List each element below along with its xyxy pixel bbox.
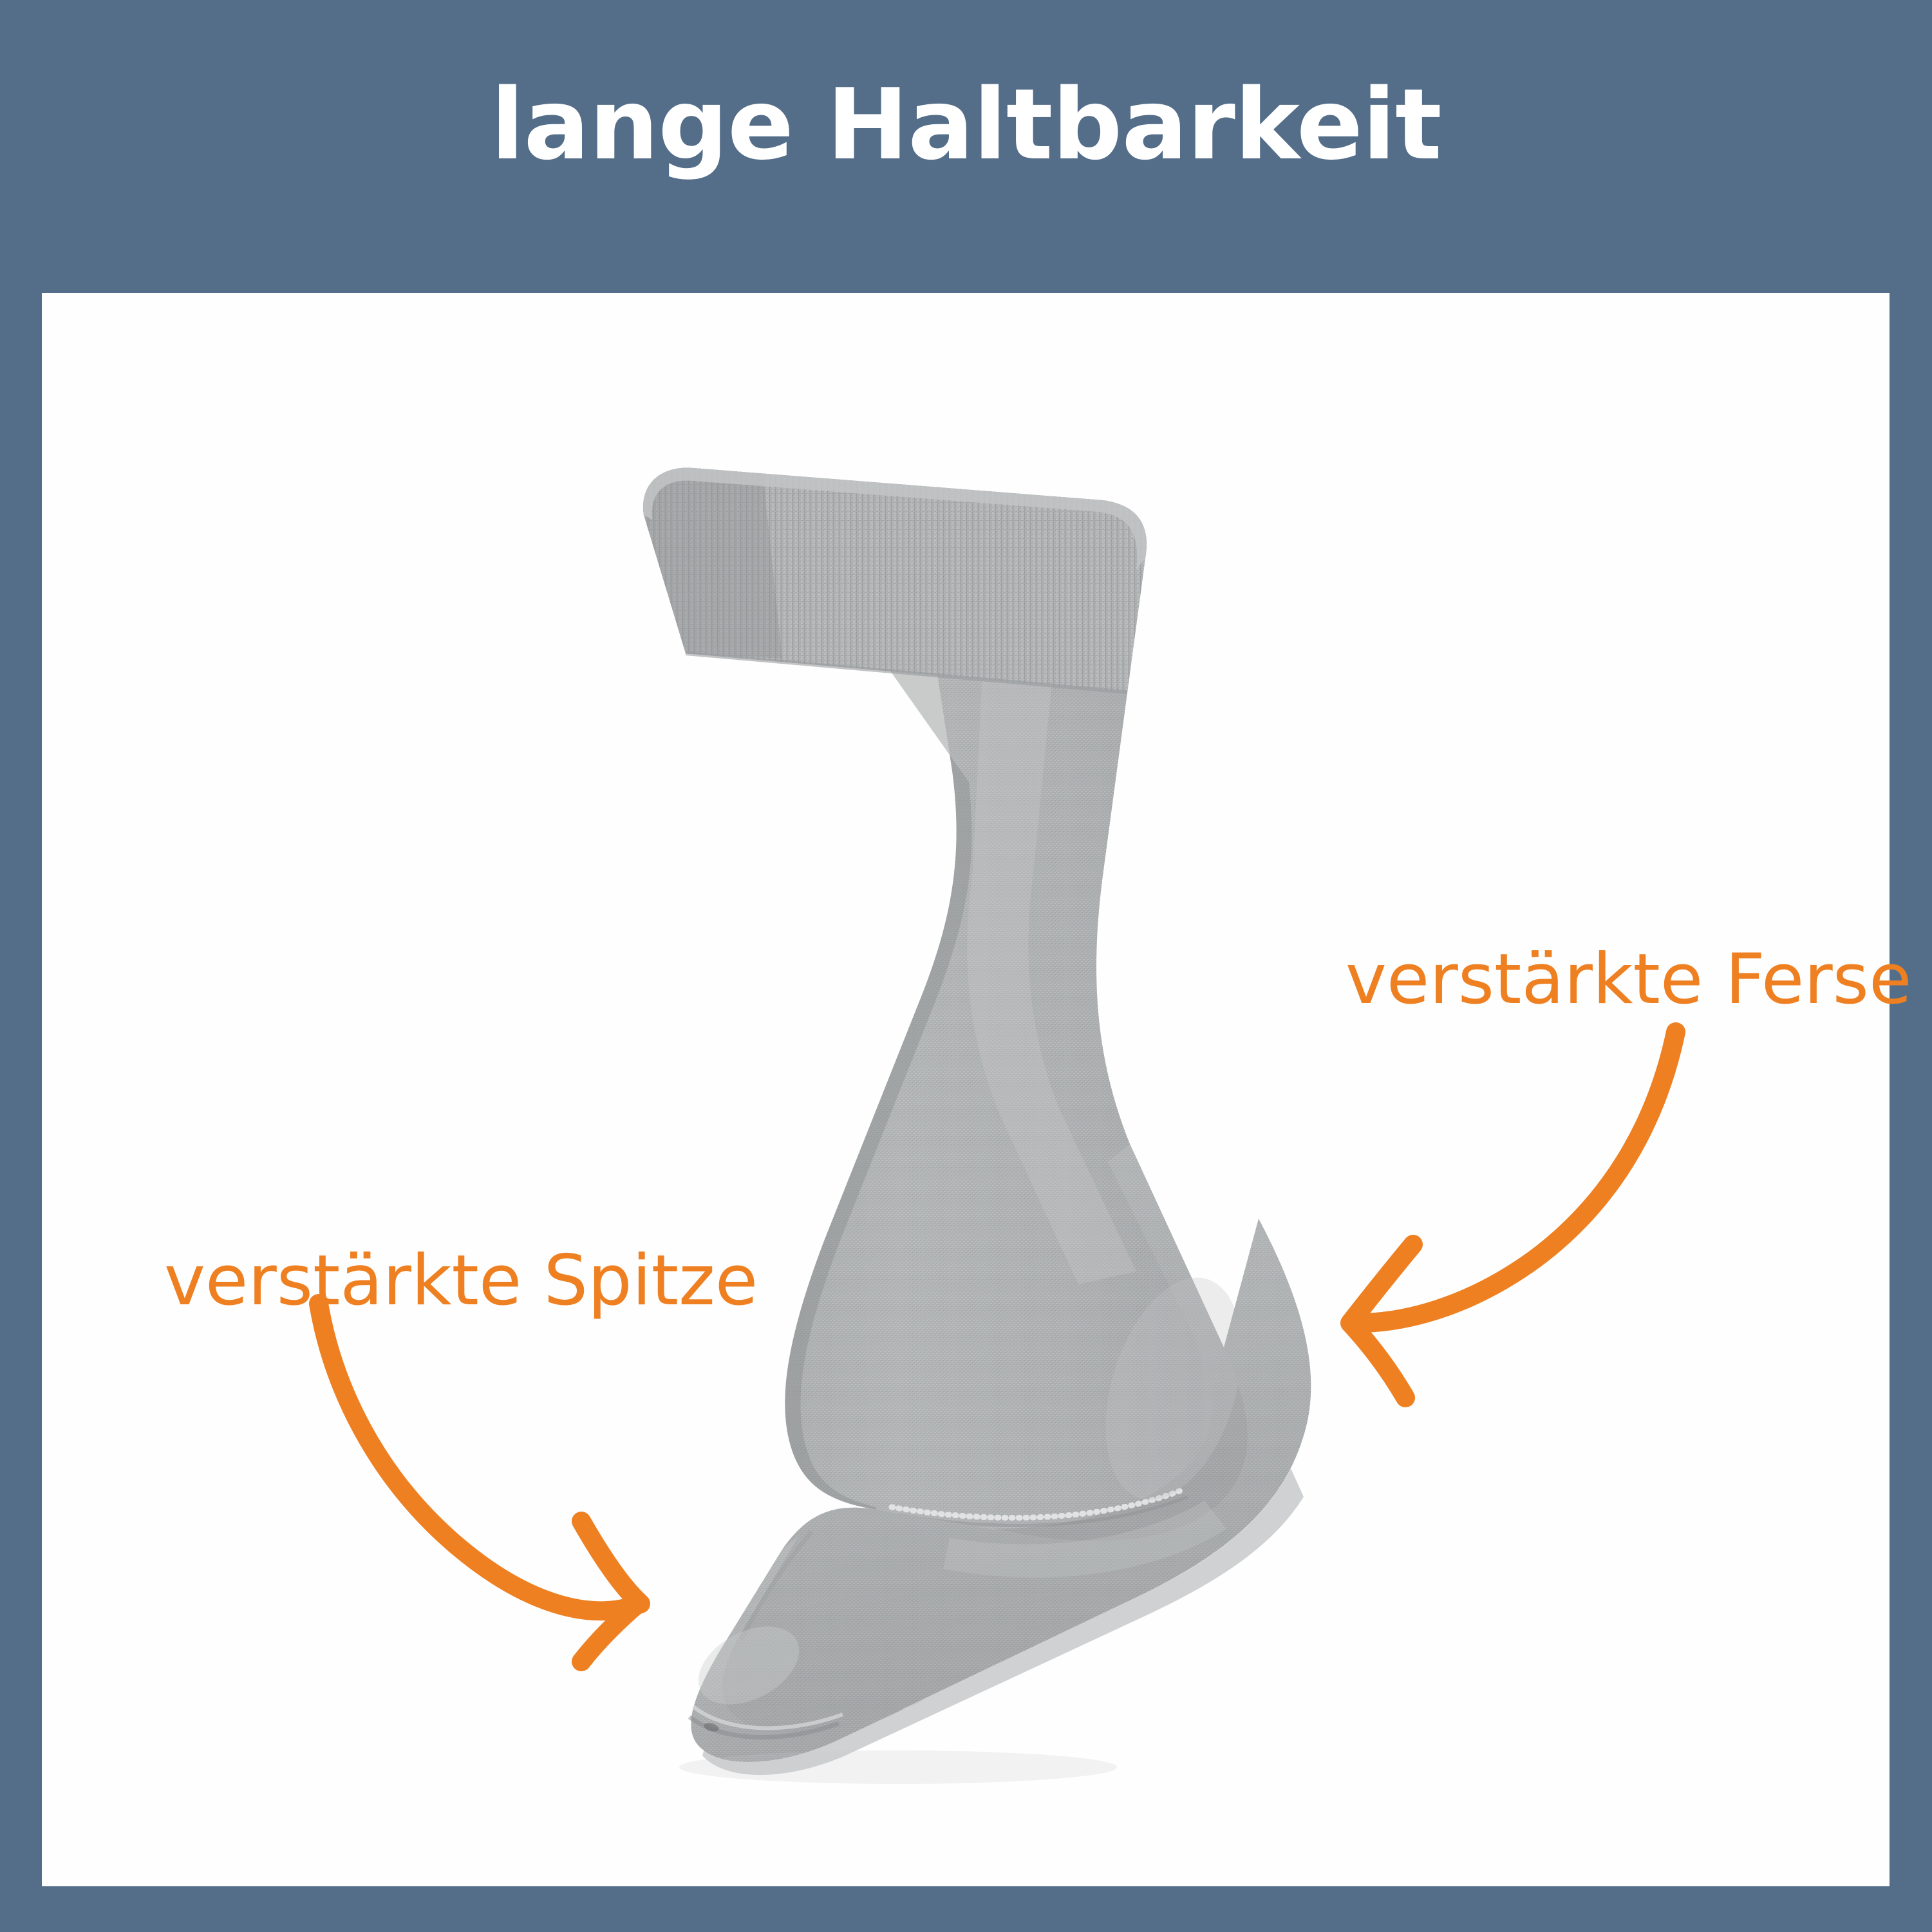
callout-label-toe: verstärkte Spitze bbox=[164, 1244, 758, 1317]
sock-cuff-shadow bbox=[643, 468, 782, 659]
sock-product-image bbox=[42, 293, 1890, 1886]
sock-cuff bbox=[643, 468, 1147, 692]
product-image-panel: verstärkte Spitze verstärkte Ferse bbox=[42, 293, 1890, 1886]
callout-label-heel: verstärkte Ferse bbox=[1346, 943, 1911, 1016]
sock-drop-shadow bbox=[679, 1750, 1117, 1784]
page-title: lange Haltbarkeit bbox=[0, 76, 1932, 174]
infographic-canvas: lange Haltbarkeit bbox=[0, 0, 1932, 1932]
